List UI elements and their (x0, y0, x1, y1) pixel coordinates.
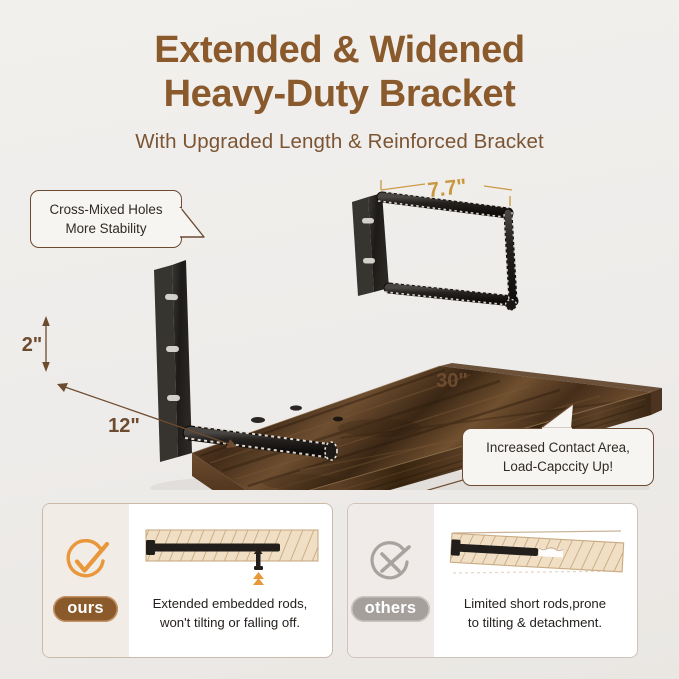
panel-ours: ours (42, 503, 333, 658)
subtitle: With Upgraded Length & Reinforced Bracke… (0, 130, 679, 154)
check-circle-icon (62, 539, 110, 585)
panel-ours-badge-column: ours (43, 504, 129, 657)
panel-others-content: Limited short rods,prone to tilting & de… (434, 504, 637, 657)
header: Extended & Widened Heavy-Duty Bracket Wi… (0, 28, 679, 154)
anchor-head (254, 566, 263, 570)
callout-1-line-1: Cross-Mixed Holes (43, 200, 169, 219)
diagram-others-short-rod (442, 526, 629, 588)
callout-1-tail (180, 207, 206, 241)
diagram-ours-long-rod (137, 526, 324, 588)
callout-2-line-1: Increased Contact Area, (475, 438, 641, 457)
anchor-shaft (256, 552, 261, 567)
infographic-root: Extended & Widened Heavy-Duty Bracket Wi… (0, 0, 679, 679)
panel-others: others (347, 503, 638, 658)
reference-line (453, 531, 621, 533)
comparison-section: ours (0, 503, 679, 658)
embedded-rod (153, 544, 280, 552)
plate-slot (363, 258, 375, 264)
caption-others: Limited short rods,prone to tilting & de… (464, 595, 606, 632)
plate-slot (362, 218, 374, 224)
callout-increased-contact-area: Increased Contact Area, Load-Capccity Up… (462, 428, 654, 486)
dimension-label-30: 30" (436, 370, 468, 392)
force-arrow-up (253, 572, 264, 585)
plate-slot (165, 294, 178, 300)
dimension-label-7-7: 7.7" (426, 175, 468, 203)
caption-ours: Extended embedded rods, won't tilting or… (153, 595, 308, 632)
reference-line-lower (453, 571, 621, 573)
callout-cross-mixed-holes: Cross-Mixed Holes More Stability (30, 190, 182, 248)
callout-1-line-2: More Stability (43, 219, 169, 238)
plate-slot (167, 395, 180, 401)
callout-2-tail (531, 404, 575, 430)
dimension-label-12: 12" (108, 415, 140, 437)
plate-slot (166, 346, 179, 352)
wood-plank-tilted (450, 534, 623, 573)
callout-2-line-2: Load-Capccity Up! (475, 457, 641, 476)
dimension-thickness: 2" (22, 316, 58, 372)
x-circle-icon (367, 539, 415, 585)
title-line-2: Heavy-Duty Bracket (0, 72, 679, 116)
dimension-label-2: 2" (22, 334, 43, 356)
panel-others-badge-column: others (348, 504, 434, 657)
bracket-wall-plate-right (352, 193, 389, 296)
panel-ours-content: Extended embedded rods, won't tilting or… (129, 504, 332, 657)
badge-others: others (351, 596, 431, 621)
badge-ours: ours (53, 596, 118, 621)
title-line-1: Extended & Widened (0, 28, 679, 72)
bracket-rod-rear (378, 192, 517, 311)
rod-end-cap (325, 442, 337, 460)
shelf-right-end-face (651, 388, 662, 415)
rod-end-cap (506, 300, 517, 311)
